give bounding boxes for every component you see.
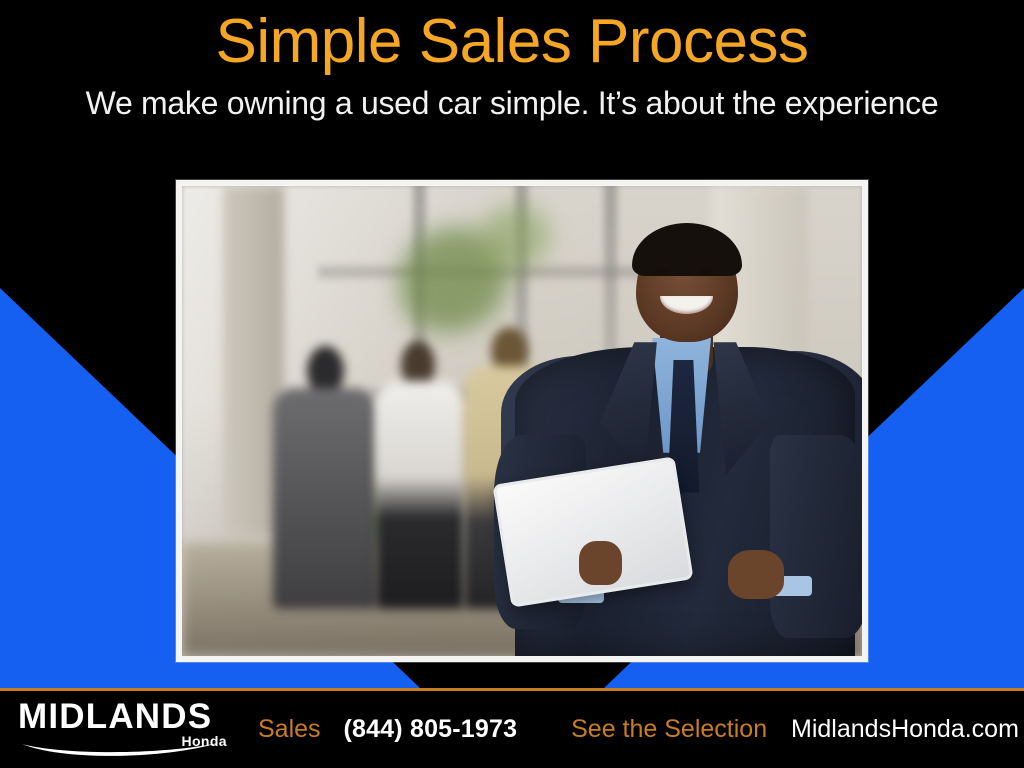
sales-phone[interactable]: (844) 805-1973 — [343, 715, 517, 743]
hand — [728, 550, 785, 599]
background-person — [372, 341, 467, 609]
hero-photo — [182, 186, 862, 656]
footer-contact-line: Sales (844) 805-1973 See the Selection M… — [258, 713, 1019, 745]
website-link[interactable]: MidlandsHonda.com — [791, 715, 1019, 743]
background-person — [270, 346, 379, 609]
brand-logo[interactable]: MIDLANDS Honda — [18, 699, 233, 761]
page-subtitle: We make owning a used car simple. It’s a… — [0, 83, 1024, 123]
page-title: Simple Sales Process — [0, 6, 1024, 78]
brand-logo-word: MIDLANDS — [18, 699, 233, 735]
see-selection-label: See the Selection — [571, 715, 767, 743]
swoosh-icon — [20, 741, 220, 761]
hair — [632, 223, 742, 276]
slide-canvas: Simple Sales Process We make owning a us… — [0, 0, 1024, 768]
hero-photo-frame — [176, 180, 868, 662]
sales-label: Sales — [258, 715, 321, 743]
foreground-businessman — [508, 214, 862, 656]
footer-bar: MIDLANDS Honda Sales (844) 805-1973 See … — [0, 691, 1024, 768]
hand — [579, 541, 621, 585]
arm — [770, 435, 862, 638]
